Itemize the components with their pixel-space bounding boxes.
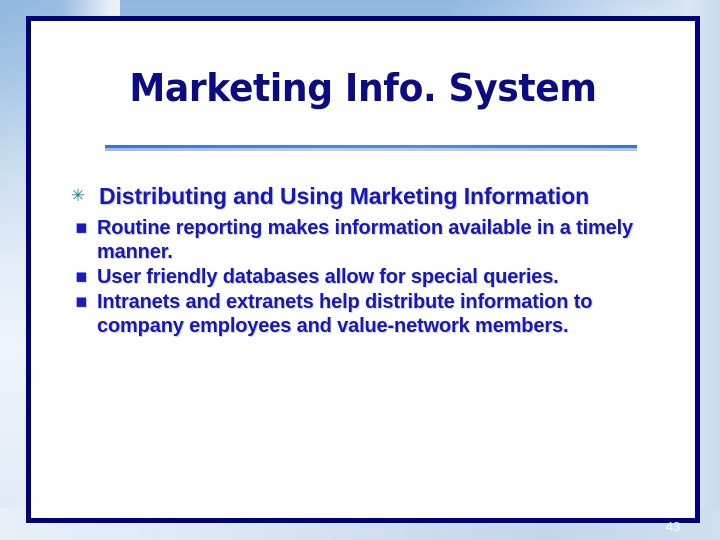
starburst-bullet-icon: ✳ bbox=[69, 187, 87, 205]
sub-bullet-label: User friendly databases allow for specia… bbox=[97, 265, 677, 289]
square-bullet-icon: ▪ bbox=[75, 290, 88, 313]
list-item: ▪ User friendly databases allow for spec… bbox=[67, 265, 677, 289]
bullet-level1-label: Distributing and Using Marketing Informa… bbox=[99, 183, 677, 210]
slide-body: ✳ Distributing and Using Marketing Infor… bbox=[67, 183, 677, 339]
slide-title: Marketing Info. System bbox=[48, 69, 679, 109]
bullet-level1: ✳ Distributing and Using Marketing Infor… bbox=[67, 183, 677, 210]
slide-content-panel: Marketing Info. System ✳ Distributing an… bbox=[31, 21, 695, 518]
sub-bullet-list: ▪ Routine reporting makes information av… bbox=[67, 216, 677, 338]
sub-bullet-label: Intranets and extranets help distribute … bbox=[97, 290, 677, 338]
slide-number: 43 bbox=[655, 519, 691, 534]
slide-content-frame: Marketing Info. System ✳ Distributing an… bbox=[26, 16, 700, 523]
divider-highlight bbox=[105, 148, 637, 151]
title-divider-rule bbox=[105, 145, 637, 152]
sub-bullet-label: Routine reporting makes information avai… bbox=[97, 216, 677, 264]
list-item: ▪ Intranets and extranets help distribut… bbox=[67, 290, 677, 338]
list-item: ▪ Routine reporting makes information av… bbox=[67, 216, 677, 264]
square-bullet-icon: ▪ bbox=[75, 265, 88, 288]
presentation-slide: Marketing Info. System ✳ Distributing an… bbox=[0, 0, 720, 540]
square-bullet-icon: ▪ bbox=[75, 216, 88, 239]
